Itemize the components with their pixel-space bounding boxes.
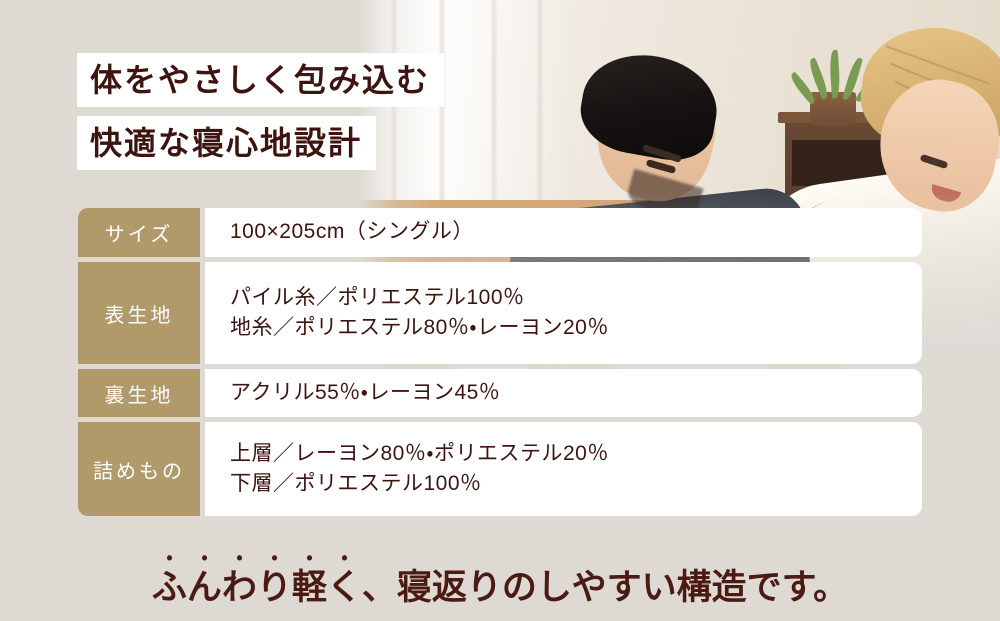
tagline: ふんわり軽く、寝返りのしやすい構造です。: [0, 548, 1000, 610]
spec-table: サイズ 100×205cm（シングル） 表生地 パイル糸／ポリエステル100％ …: [78, 208, 922, 516]
spec-value-line: パイル糸／ポリエステル100％: [230, 283, 922, 313]
table-row: 詰めもの 上層／レーヨン80％・ポリエステル20％ 下層／ポリエステル100％: [78, 422, 922, 516]
spec-value-line: 上層／レーヨン80％・ポリエステル20％: [230, 439, 922, 469]
spec-value-filling: 上層／レーヨン80％・ポリエステル20％ 下層／ポリエステル100％: [205, 422, 922, 516]
headline: 体をやさしく包み込む 快適な寝心地設計: [77, 53, 444, 179]
spec-value-face-fabric: パイル糸／ポリエステル100％ 地糸／ポリエステル80％・レーヨン20％: [205, 262, 922, 364]
spec-value-line: アクリル55％・レーヨン45％: [230, 378, 922, 408]
tagline-rest: 、寝返りのしやすい構造です。: [362, 568, 848, 607]
spec-label-back-fabric: 裏生地: [78, 369, 200, 417]
headline-line-2: 快適な寝心地設計: [77, 116, 376, 170]
table-row: 裏生地 アクリル55％・レーヨン45％: [78, 369, 922, 417]
spec-value-size: 100×205cm（シングル）: [205, 208, 922, 257]
spec-value-line: 下層／ポリエステル100％: [230, 469, 922, 499]
spec-value-line: 地糸／ポリエステル80％・レーヨン20％: [230, 313, 922, 343]
spec-value-back-fabric: アクリル55％・レーヨン45％: [205, 369, 922, 417]
tagline-emphasized: ふんわり軽く: [152, 568, 362, 607]
table-row: 表生地 パイル糸／ポリエステル100％ 地糸／ポリエステル80％・レーヨン20％: [78, 262, 922, 364]
spec-label-face-fabric: 表生地: [78, 262, 200, 364]
table-row: サイズ 100×205cm（シングル）: [78, 208, 922, 257]
spec-label-filling: 詰めもの: [78, 422, 200, 516]
spec-value-line: 100×205cm（シングル）: [230, 217, 922, 247]
headline-line-1: 体をやさしく包み込む: [77, 53, 444, 107]
promo-banner: 体をやさしく包み込む 快適な寝心地設計 サイズ 100×205cm（シングル） …: [0, 0, 1000, 621]
spec-label-size: サイズ: [78, 208, 200, 257]
